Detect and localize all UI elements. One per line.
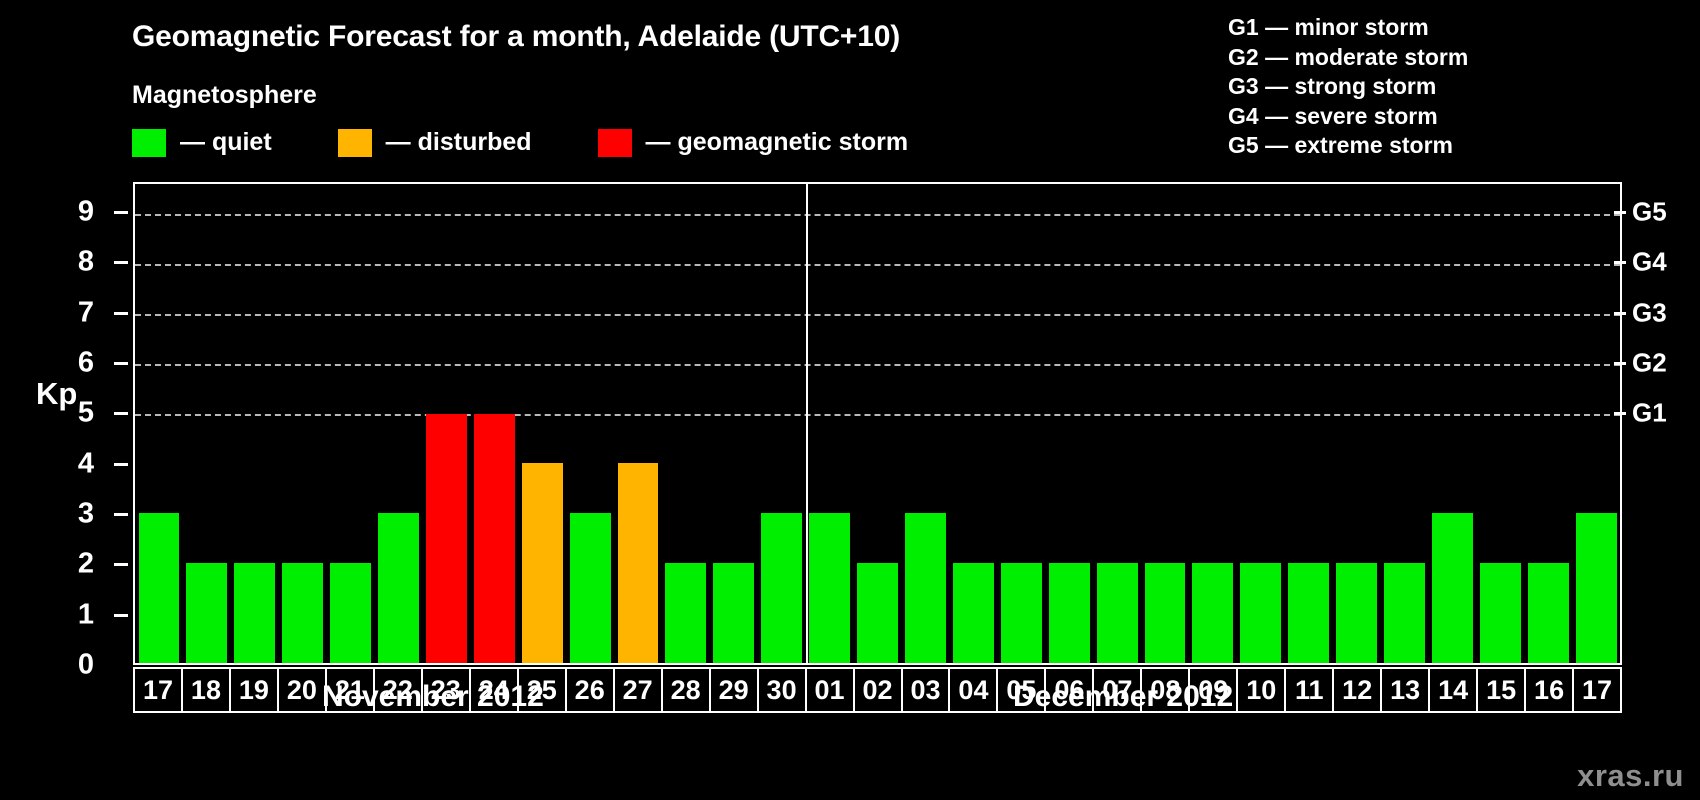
- bar-slot[interactable]: [997, 184, 1045, 663]
- g-legend-row-4: G4 — severe storm: [1228, 102, 1468, 132]
- bar-slot[interactable]: [1237, 184, 1285, 663]
- legend: — quiet — disturbed — geomagnetic storm: [132, 128, 908, 157]
- legend-label-disturbed: — disturbed: [386, 128, 532, 157]
- g-legend-row-2: G2 — moderate storm: [1228, 43, 1468, 73]
- chart-plot-area: [133, 182, 1622, 665]
- y-tick-label-3: 3: [78, 498, 94, 531]
- legend-item-disturbed: — disturbed: [338, 128, 532, 157]
- date-cell-24[interactable]: 11: [1286, 669, 1334, 711]
- bar-22[interactable]: [378, 513, 419, 663]
- g-axis: G5G4G3G2G1: [1626, 182, 1700, 665]
- legend-item-quiet: — quiet: [132, 128, 272, 157]
- quiet-swatch-icon: [132, 129, 166, 157]
- date-cell-16[interactable]: 03: [903, 669, 951, 711]
- bar-09[interactable]: [1192, 563, 1233, 663]
- date-cell-3[interactable]: 20: [279, 669, 327, 711]
- date-cell-12[interactable]: 29: [711, 669, 759, 711]
- date-cell-25[interactable]: 12: [1334, 669, 1382, 711]
- y-tick-mark-9: [114, 211, 128, 214]
- date-cell-29[interactable]: 16: [1526, 669, 1574, 711]
- bar-30[interactable]: [761, 513, 802, 663]
- bar-slot[interactable]: [949, 184, 997, 663]
- bar-slot[interactable]: [1381, 184, 1429, 663]
- bar-slot[interactable]: [1189, 184, 1237, 663]
- bar-06[interactable]: [1049, 563, 1090, 663]
- bar-slot[interactable]: [375, 184, 423, 663]
- bar-08[interactable]: [1145, 563, 1186, 663]
- bar-24[interactable]: [474, 414, 515, 663]
- bar-15[interactable]: [1480, 563, 1521, 663]
- bar-slot[interactable]: [902, 184, 950, 663]
- legend-label-quiet: — quiet: [180, 128, 272, 157]
- bar-slot[interactable]: [854, 184, 902, 663]
- y-tick-mark-4: [114, 463, 128, 466]
- y-tick-label-9: 9: [78, 196, 94, 229]
- date-cell-2[interactable]: 19: [231, 669, 279, 711]
- bar-slot[interactable]: [327, 184, 375, 663]
- bar-10[interactable]: [1240, 563, 1281, 663]
- g-tick-label-G5: G5: [1632, 197, 1667, 228]
- y-tick-label-5: 5: [78, 397, 94, 430]
- bar-slot[interactable]: [1476, 184, 1524, 663]
- bar-13[interactable]: [1384, 563, 1425, 663]
- y-tick-label-4: 4: [78, 447, 94, 480]
- bar-27[interactable]: [618, 463, 659, 663]
- bar-slot[interactable]: [470, 184, 518, 663]
- bar-05[interactable]: [1001, 563, 1042, 663]
- bar-slot[interactable]: [135, 184, 183, 663]
- g-legend-row-1: G1 — minor storm: [1228, 13, 1468, 43]
- bar-03[interactable]: [905, 513, 946, 663]
- plot-inner: [135, 184, 1620, 663]
- g-tick-mark-G5: [1614, 211, 1626, 214]
- y-tick-label-6: 6: [78, 347, 94, 380]
- disturbed-swatch-icon: [338, 129, 372, 157]
- bar-slot[interactable]: [662, 184, 710, 663]
- y-tick-mark-2: [114, 563, 128, 566]
- bar-slot[interactable]: [1141, 184, 1189, 663]
- month-caption-december: December 2012: [1013, 680, 1233, 714]
- bar-slot[interactable]: [758, 184, 806, 663]
- bar-17[interactable]: [1576, 513, 1617, 663]
- date-cell-11[interactable]: 28: [663, 669, 711, 711]
- bar-slot[interactable]: [1428, 184, 1476, 663]
- magnetosphere-label: Magnetosphere: [132, 81, 317, 110]
- bar-slot[interactable]: [231, 184, 279, 663]
- date-cell-23[interactable]: 10: [1238, 669, 1286, 711]
- bar-slot[interactable]: [422, 184, 470, 663]
- g-tick-mark-G3: [1614, 312, 1626, 315]
- y-tick-label-1: 1: [78, 598, 94, 631]
- bar-28[interactable]: [665, 563, 706, 663]
- y-tick-label-7: 7: [78, 296, 94, 329]
- bar-19[interactable]: [234, 563, 275, 663]
- bar-slot[interactable]: [1333, 184, 1381, 663]
- date-cell-1[interactable]: 18: [183, 669, 231, 711]
- bar-16[interactable]: [1528, 563, 1569, 663]
- bar-slot[interactable]: [183, 184, 231, 663]
- y-tick-mark-8: [114, 261, 128, 264]
- storm-swatch-icon: [598, 129, 632, 157]
- date-cell-26[interactable]: 13: [1382, 669, 1430, 711]
- bar-slot[interactable]: [279, 184, 327, 663]
- bar-25[interactable]: [522, 463, 563, 663]
- bar-slot[interactable]: [1572, 184, 1620, 663]
- g-tick-label-G4: G4: [1632, 247, 1667, 278]
- g-tick-label-G3: G3: [1632, 297, 1667, 328]
- bar-21[interactable]: [330, 563, 371, 663]
- bar-02[interactable]: [857, 563, 898, 663]
- date-cell-14[interactable]: 01: [807, 669, 855, 711]
- bar-11[interactable]: [1288, 563, 1329, 663]
- bar-series: [135, 184, 1620, 663]
- y-axis: 9876543210: [0, 182, 128, 665]
- g-tick-label-G1: G1: [1632, 398, 1667, 429]
- g-tick-mark-G2: [1614, 362, 1626, 365]
- bar-18[interactable]: [186, 563, 227, 663]
- date-cell-30[interactable]: 17: [1574, 669, 1620, 711]
- date-cell-27[interactable]: 14: [1430, 669, 1478, 711]
- g-tick-label-G2: G2: [1632, 348, 1667, 379]
- month-divider: [806, 184, 808, 663]
- bar-slot[interactable]: [710, 184, 758, 663]
- y-tick-mark-7: [114, 312, 128, 315]
- bar-14[interactable]: [1432, 513, 1473, 663]
- bar-slot[interactable]: [1045, 184, 1093, 663]
- bar-20[interactable]: [282, 563, 323, 663]
- date-cell-17[interactable]: 04: [950, 669, 998, 711]
- bar-slot[interactable]: [518, 184, 566, 663]
- bar-slot[interactable]: [566, 184, 614, 663]
- date-cell-13[interactable]: 30: [759, 669, 807, 711]
- date-cell-9[interactable]: 26: [567, 669, 615, 711]
- bar-29[interactable]: [713, 563, 754, 663]
- y-tick-label-2: 2: [78, 548, 94, 581]
- date-cell-15[interactable]: 02: [855, 669, 903, 711]
- date-cell-28[interactable]: 15: [1478, 669, 1526, 711]
- page-title: Geomagnetic Forecast for a month, Adelai…: [132, 20, 900, 54]
- bar-04[interactable]: [953, 563, 994, 663]
- month-caption-november: November 2012: [322, 680, 544, 714]
- y-tick-label-0: 0: [78, 649, 94, 682]
- bar-slot[interactable]: [806, 184, 854, 663]
- bar-07[interactable]: [1097, 563, 1138, 663]
- watermark: xras.ru: [1577, 758, 1684, 794]
- legend-item-storm: — geomagnetic storm: [598, 128, 909, 157]
- g-legend-row-3: G3 — strong storm: [1228, 72, 1468, 102]
- bar-12[interactable]: [1336, 563, 1377, 663]
- g-tick-mark-G4: [1614, 261, 1626, 264]
- g-scale-legend: G1 — minor stormG2 — moderate stormG3 — …: [1228, 13, 1468, 161]
- legend-label-storm: — geomagnetic storm: [646, 128, 909, 157]
- g-tick-mark-G1: [1614, 412, 1626, 415]
- bar-slot[interactable]: [1093, 184, 1141, 663]
- g-legend-row-5: G5 — extreme storm: [1228, 131, 1468, 161]
- y-tick-mark-1: [114, 614, 128, 617]
- date-cell-10[interactable]: 27: [615, 669, 663, 711]
- bar-01[interactable]: [809, 513, 850, 663]
- y-tick-mark-3: [114, 513, 128, 516]
- date-cell-0[interactable]: 17: [135, 669, 183, 711]
- y-tick-label-8: 8: [78, 246, 94, 279]
- bar-23[interactable]: [426, 414, 467, 663]
- bar-slot[interactable]: [1524, 184, 1572, 663]
- bar-26[interactable]: [570, 513, 611, 663]
- bar-slot[interactable]: [614, 184, 662, 663]
- bar-slot[interactable]: [1285, 184, 1333, 663]
- bar-17[interactable]: [139, 513, 180, 663]
- y-tick-mark-6: [114, 362, 128, 365]
- y-tick-mark-5: [114, 412, 128, 415]
